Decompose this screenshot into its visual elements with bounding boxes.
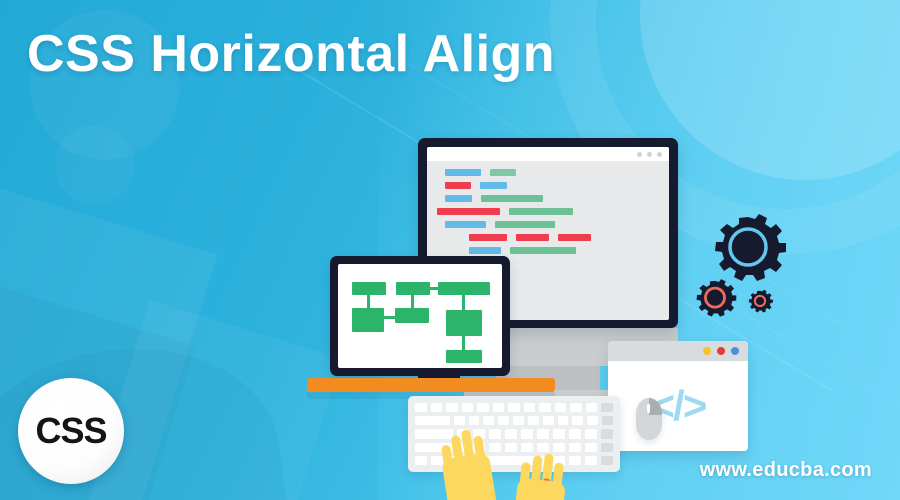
banner-canvas: CSS Horizontal Align xyxy=(0,0,900,500)
code-line xyxy=(445,221,659,228)
computer-mouse xyxy=(636,398,662,440)
background-circle-soft-left-2 xyxy=(55,125,135,205)
laptop-base xyxy=(307,378,555,392)
keyboard-row xyxy=(415,403,613,412)
gears-group xyxy=(690,213,800,328)
code-line xyxy=(445,169,659,176)
window-dot-icon xyxy=(637,152,642,157)
code-window-titlebar xyxy=(608,341,748,361)
monitor-window-titlebar xyxy=(427,147,669,161)
code-line xyxy=(445,182,659,189)
page-title: CSS Horizontal Align xyxy=(27,24,555,85)
code-browser-window: </> xyxy=(608,341,748,451)
window-dot-blue-icon xyxy=(731,347,739,355)
window-dot-yellow-icon xyxy=(703,347,711,355)
laptop-screen xyxy=(338,264,502,368)
hero-illustration: </> xyxy=(340,128,810,500)
css-logo-badge: CSS xyxy=(18,378,124,484)
keyboard-row xyxy=(415,416,613,425)
gears-icon xyxy=(690,213,800,328)
window-dot-icon xyxy=(647,152,652,157)
css-logo-label: CSS xyxy=(35,410,106,452)
site-watermark: www.educba.com xyxy=(700,459,872,482)
right-hand xyxy=(507,449,573,500)
window-dot-red-icon xyxy=(717,347,725,355)
window-dot-icon xyxy=(657,152,662,157)
laptop-flowchart xyxy=(330,256,510,376)
code-line xyxy=(469,234,659,241)
code-line xyxy=(445,195,659,202)
code-line xyxy=(437,208,659,215)
code-symbol-icon: </> xyxy=(608,361,748,451)
code-line xyxy=(469,247,659,254)
